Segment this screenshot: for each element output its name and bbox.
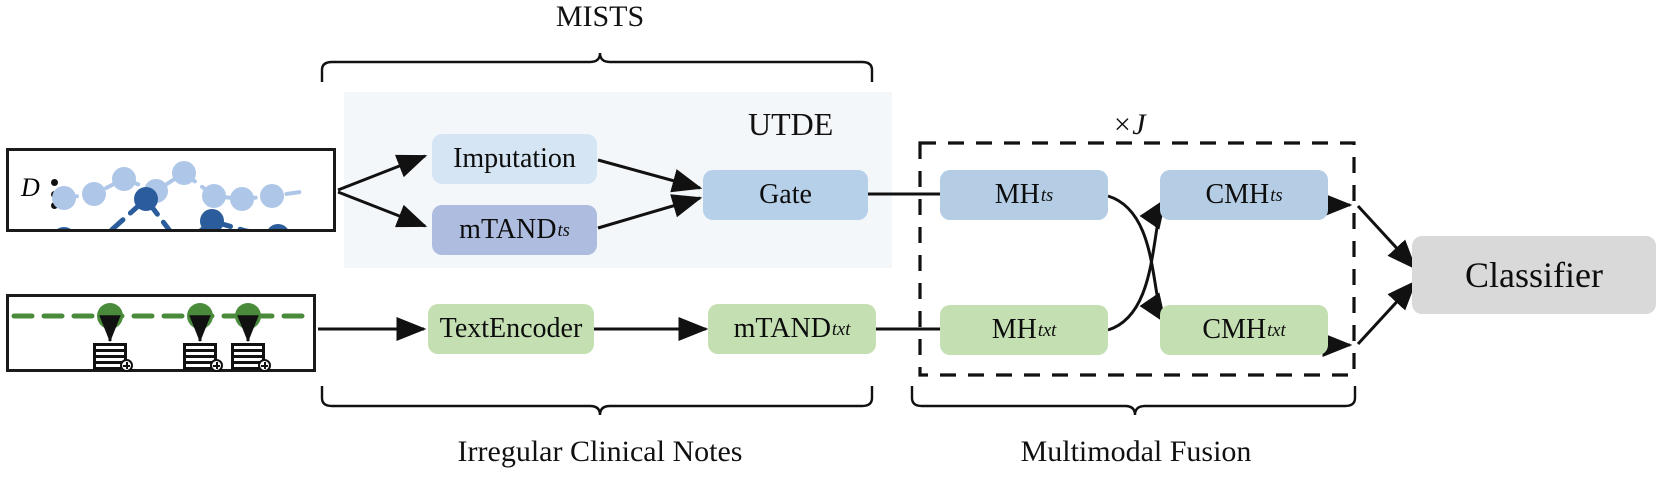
repeat-j-label: ×J bbox=[1112, 108, 1146, 142]
node-imputation-label: Imputation bbox=[453, 145, 576, 173]
node-mh-txt[interactable]: MHtxt bbox=[940, 305, 1108, 355]
node-imputation[interactable]: Imputation bbox=[432, 134, 597, 184]
irregular-clinical-notes-label: Irregular Clinical Notes bbox=[440, 435, 760, 469]
node-cmh-txt-label: CMH bbox=[1202, 316, 1266, 344]
node-text-encoder[interactable]: TextEncoder bbox=[428, 304, 594, 354]
clinical-notes-input-box bbox=[6, 294, 316, 372]
dimension-label: D bbox=[21, 173, 40, 203]
node-mtand-ts[interactable]: mTANDts bbox=[432, 205, 597, 255]
node-classifier-label: Classifier bbox=[1465, 257, 1603, 293]
mists-label: MISTS bbox=[500, 0, 700, 34]
node-mtand-txt-label: mTAND bbox=[734, 315, 831, 343]
document-badge-icon bbox=[120, 359, 133, 372]
timeseries-input-box: D bbox=[6, 148, 336, 232]
node-cmh-ts[interactable]: CMHts bbox=[1160, 170, 1328, 220]
utde-label: UTDE bbox=[748, 106, 833, 143]
node-cmh-txt[interactable]: CMHtxt bbox=[1160, 305, 1328, 355]
node-mh-ts[interactable]: MHts bbox=[940, 170, 1108, 220]
node-mtand-ts-label: mTAND bbox=[459, 216, 556, 244]
vertical-dots-icon bbox=[51, 179, 58, 209]
node-gate-label: Gate bbox=[759, 181, 812, 209]
document-badge-icon bbox=[210, 359, 223, 372]
node-cmh-ts-label: CMH bbox=[1205, 181, 1269, 209]
node-classifier[interactable]: Classifier bbox=[1412, 236, 1656, 314]
document-badge-icon bbox=[258, 359, 271, 372]
node-mh-ts-label: MH bbox=[995, 181, 1040, 209]
multimodal-fusion-label: Multimodal Fusion bbox=[1000, 435, 1272, 469]
node-mh-txt-label: MH bbox=[992, 316, 1037, 344]
architecture-diagram: D bbox=[0, 0, 1676, 504]
node-gate[interactable]: Gate bbox=[703, 170, 868, 220]
node-text-encoder-label: TextEncoder bbox=[440, 315, 583, 343]
node-mtand-txt[interactable]: mTANDtxt bbox=[708, 304, 876, 354]
